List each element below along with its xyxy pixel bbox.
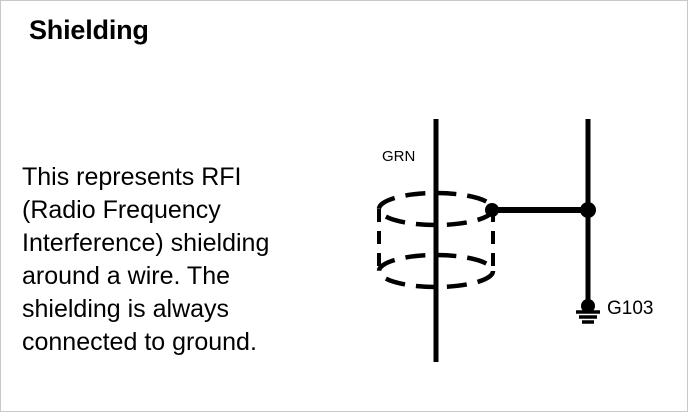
ground-label-g103: G103 bbox=[607, 298, 653, 320]
shielding-schematic bbox=[1, 1, 688, 412]
wire-label-grn: GRN bbox=[382, 148, 415, 165]
slide-canvas: Shielding This represents RFI (Radio Fre… bbox=[0, 0, 688, 412]
junction-dot-ground bbox=[580, 202, 596, 218]
